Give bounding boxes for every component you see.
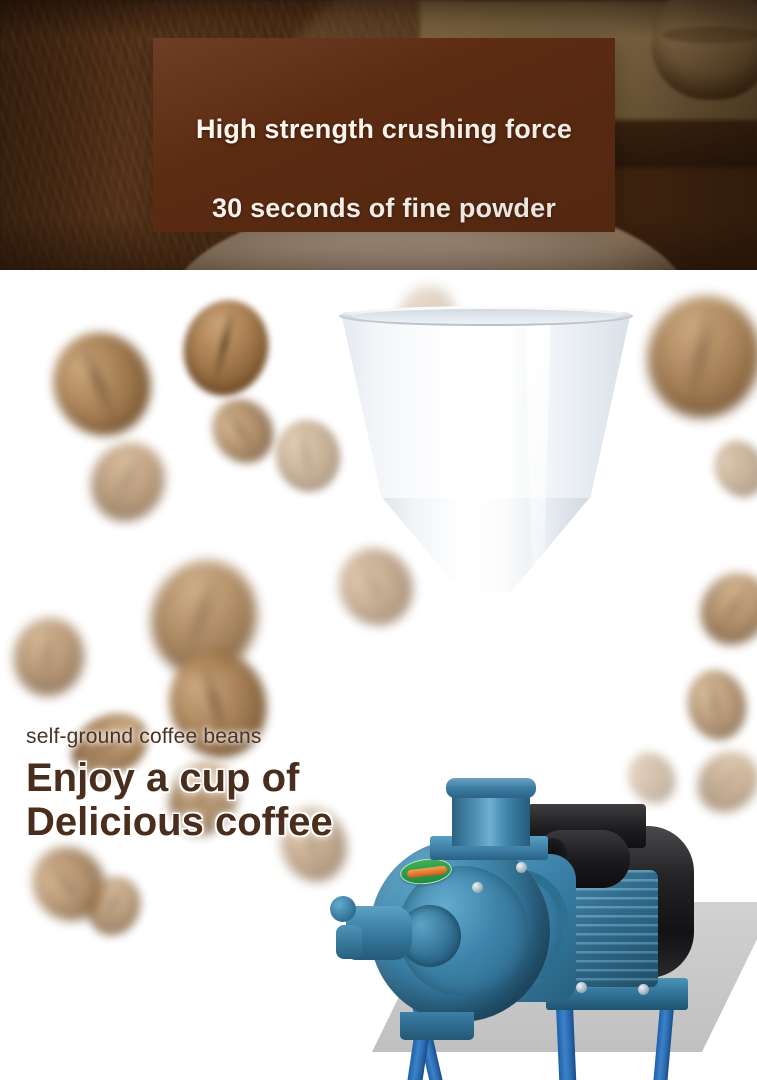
hero-caption-panel: High strength crushing force 30 seconds … (153, 38, 615, 232)
hopper-neck (452, 792, 530, 846)
bolt-icon (472, 882, 483, 893)
grinder-outlet-stub (336, 925, 362, 959)
hopper-flange (446, 778, 536, 798)
bolt-icon (638, 984, 649, 995)
hopper-opening (352, 309, 620, 324)
bolt-icon (516, 862, 527, 873)
copy-heading-line-2: Delicious coffee (26, 800, 446, 844)
grinder-body-foot (400, 1012, 474, 1040)
copy-heading-line-1: Enjoy a cup of (26, 756, 446, 800)
hero-headline-primary: High strength crushing force (153, 114, 615, 145)
grinder-adjust-knob[interactable] (330, 896, 356, 922)
stand-leg-back-right (639, 1005, 674, 1080)
marketing-copy-block: self-ground coffee beans Enjoy a cup of … (26, 725, 446, 844)
copy-subheading: self-ground coffee beans (26, 725, 446, 749)
hopper-cone (381, 496, 591, 592)
stand-leg-front-right (556, 1006, 587, 1080)
product-marketing-page: High strength crushing force 30 seconds … (0, 0, 757, 1080)
hero-headline-secondary: 30 seconds of fine powder (153, 193, 615, 224)
hero-banner: High strength crushing force 30 seconds … (0, 0, 757, 270)
hopper-bowl (341, 312, 631, 498)
grain-grinder-machine (0, 270, 757, 1080)
product-showcase: self-ground coffee beans Enjoy a cup of … (0, 270, 757, 1080)
bolt-icon (576, 982, 587, 993)
